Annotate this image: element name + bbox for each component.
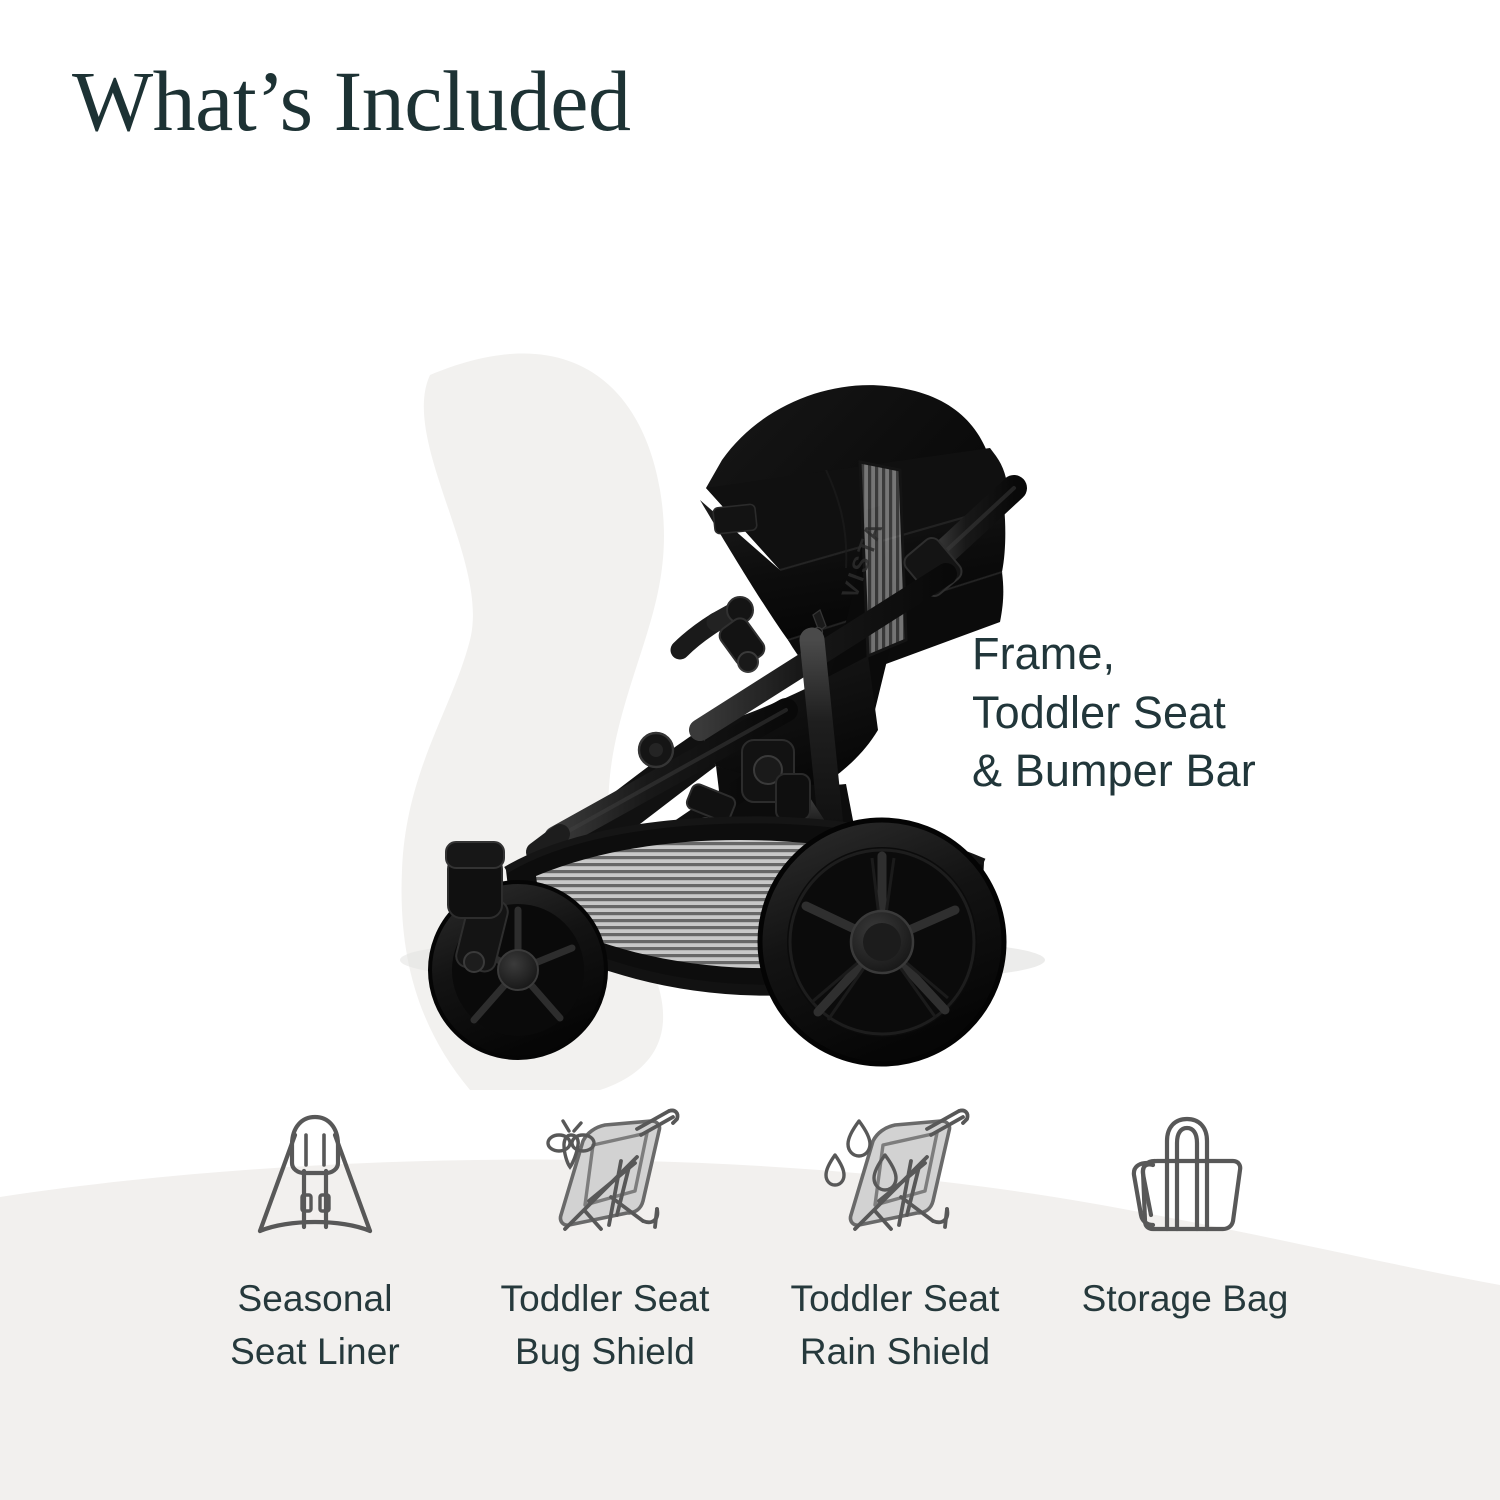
storage-bag-icon: [1105, 1095, 1265, 1245]
stroller-illustration: VISTA: [0, 170, 1500, 1090]
bug-shield-icon: [525, 1095, 685, 1245]
hero-callout: Frame, Toddler Seat & Bumper Bar: [972, 625, 1256, 801]
feature-seasonal-seat-liner[interactable]: Seasonal Seat Liner: [170, 1135, 460, 1378]
feature-label: Storage Bag: [1082, 1273, 1289, 1326]
feature-label: Toddler Seat Rain Shield: [791, 1273, 1000, 1378]
rain-shield-icon: [815, 1095, 975, 1245]
feature-toddler-seat-bug-shield[interactable]: Toddler Seat Bug Shield: [460, 1135, 750, 1378]
feature-list: Seasonal Seat Liner: [0, 1135, 1500, 1500]
hero-product-image: VISTA: [0, 170, 1500, 1090]
canopy-brand-tab: [713, 504, 757, 534]
feature-toddler-seat-rain-shield[interactable]: Toddler Seat Rain Shield: [750, 1135, 1040, 1378]
rear-wheel: [760, 820, 1004, 1064]
front-hub: [498, 950, 538, 990]
feature-label: Toddler Seat Bug Shield: [501, 1273, 710, 1378]
page-title: What’s Included: [72, 58, 630, 144]
included-accessories-band: Seasonal Seat Liner: [0, 1135, 1500, 1500]
feature-storage-bag[interactable]: Storage Bag: [1040, 1135, 1330, 1326]
seat-liner-icon: [240, 1095, 390, 1245]
infographic-page: What’s Included: [0, 0, 1500, 1500]
recline-hinge: [639, 733, 673, 767]
feature-label: Seasonal Seat Liner: [230, 1273, 400, 1378]
